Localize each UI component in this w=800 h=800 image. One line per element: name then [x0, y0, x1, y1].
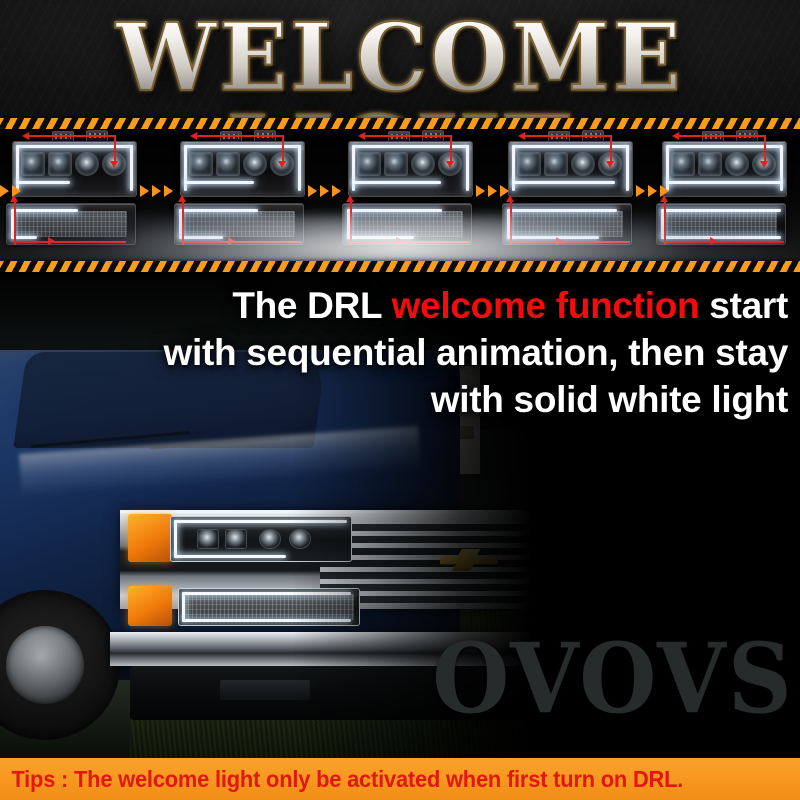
- led-projector-icon: [571, 152, 595, 176]
- sequence-frame-2: [168, 129, 320, 261]
- bumper-lamp-mesh: [184, 594, 354, 620]
- bumper-lens: [13, 211, 127, 237]
- brand-watermark: OVOVS: [432, 631, 794, 728]
- led-projector-icon: [216, 152, 240, 176]
- flow-arrow-icon: [190, 132, 197, 140]
- flow-arrow-icon: [346, 195, 354, 202]
- sequence-separator: [308, 185, 341, 197]
- flow-arrow-path: [664, 241, 784, 243]
- bumper-lamp-5: [656, 203, 786, 245]
- flow-arrow-icon: [228, 237, 235, 245]
- installed-headlight: [170, 516, 352, 562]
- led-projector-icon: [21, 152, 45, 176]
- led-projector-icon: [357, 152, 381, 176]
- sequence-separator: [636, 185, 669, 197]
- bumper-lens: [509, 211, 623, 237]
- sequence-separator: [140, 185, 173, 197]
- headlight-housing: [662, 141, 787, 197]
- bumper-lamp-2: [174, 203, 304, 245]
- flow-arrow-icon: [110, 161, 118, 168]
- led-projector-icon: [517, 152, 541, 176]
- flow-arrow-path: [350, 199, 352, 245]
- header-banner: WELCOME LIGHT: [0, 0, 800, 118]
- turn-signal-upper: [128, 514, 172, 562]
- led-projector-icon: [725, 152, 749, 176]
- led-projector-icon: [243, 152, 267, 176]
- led-projector-icon: [544, 152, 568, 176]
- headlight-unit-4: [508, 141, 633, 197]
- bumper-lens: [663, 211, 777, 237]
- tips-bar: Tips : The welcome light only be activat…: [0, 758, 800, 800]
- flow-arrow-path: [664, 199, 666, 245]
- led-projector-icon: [698, 152, 722, 176]
- flow-arrow-icon: [278, 161, 286, 168]
- page-title-text: WELCOME LIGHT: [0, 12, 800, 118]
- flow-arrow-icon: [556, 237, 563, 245]
- flow-arrow-path: [182, 199, 184, 245]
- led-projector-icon: [75, 152, 99, 176]
- headlight-unit-3: [348, 141, 473, 197]
- flow-arrow-path: [510, 241, 630, 243]
- flow-arrow-path: [28, 135, 116, 137]
- bumper-lamp-1: [6, 203, 136, 245]
- flow-arrow-icon: [606, 161, 614, 168]
- headlight-housing: [12, 141, 137, 197]
- tips-text: Tips : The welcome light only be activat…: [0, 766, 683, 793]
- headline-highlight: welcome function: [392, 285, 700, 326]
- bumper-lamp-3: [342, 203, 472, 245]
- flow-arrow-path: [350, 241, 470, 243]
- product-infographic: WELCOME LIGHT: [0, 0, 800, 800]
- sequence-frame-4: [496, 129, 648, 261]
- flow-arrow-path: [14, 241, 126, 243]
- headline-text: The DRL welcome function start with sequ…: [152, 282, 788, 423]
- led-projector-icon: [411, 152, 435, 176]
- flow-arrow-path: [364, 135, 452, 137]
- flow-arrow-icon: [446, 161, 454, 168]
- page-title: WELCOME LIGHT: [0, 20, 800, 118]
- led-projector-icon: [48, 152, 72, 176]
- flow-arrow-path: [182, 241, 302, 243]
- hazard-stripe-bottom: [0, 261, 800, 272]
- bumper-lens: [349, 211, 463, 237]
- flow-arrow-icon: [22, 132, 29, 140]
- installed-bumper-lamp: [178, 588, 360, 626]
- turn-signal-lower: [128, 586, 172, 626]
- led-projector-icon: [671, 152, 695, 176]
- led-projector-icon: [384, 152, 408, 176]
- flow-arrow-path: [678, 135, 766, 137]
- headlight-unit-5: [662, 141, 787, 197]
- flow-arrow-icon: [710, 237, 717, 245]
- flow-arrow-icon: [396, 237, 403, 245]
- flow-arrow-path: [524, 135, 612, 137]
- headlight-unit-1: [12, 141, 137, 197]
- main-panel: The DRL welcome function start with sequ…: [0, 270, 800, 758]
- headlight-housing: [180, 141, 305, 197]
- headlight-housing: [508, 141, 633, 197]
- bumper-lamp-4: [502, 203, 632, 245]
- flow-arrow-icon: [48, 237, 55, 245]
- flow-arrow-path: [196, 135, 284, 137]
- headline-part-1: The DRL: [232, 285, 391, 326]
- sequence-frame-5: [650, 129, 800, 261]
- flow-arrow-path: [14, 199, 16, 245]
- sequence-frame-3: [336, 129, 488, 261]
- hazard-stripe-top: [0, 118, 800, 129]
- flow-arrow-path: [510, 199, 512, 245]
- flow-arrow-icon: [178, 195, 186, 202]
- bumper-lens: [181, 211, 295, 237]
- led-projector-icon: [189, 152, 213, 176]
- flow-arrow-icon: [760, 161, 768, 168]
- flow-arrow-icon: [672, 132, 679, 140]
- headlight-housing: [348, 141, 473, 197]
- flow-arrow-icon: [518, 132, 525, 140]
- sequence-separator: [476, 185, 509, 197]
- animation-sequence-strip: [0, 129, 800, 261]
- flow-arrow-icon: [358, 132, 365, 140]
- sequence-frame-1: [0, 129, 152, 261]
- sequence-separator: [0, 185, 21, 197]
- headlight-unit-2: [180, 141, 305, 197]
